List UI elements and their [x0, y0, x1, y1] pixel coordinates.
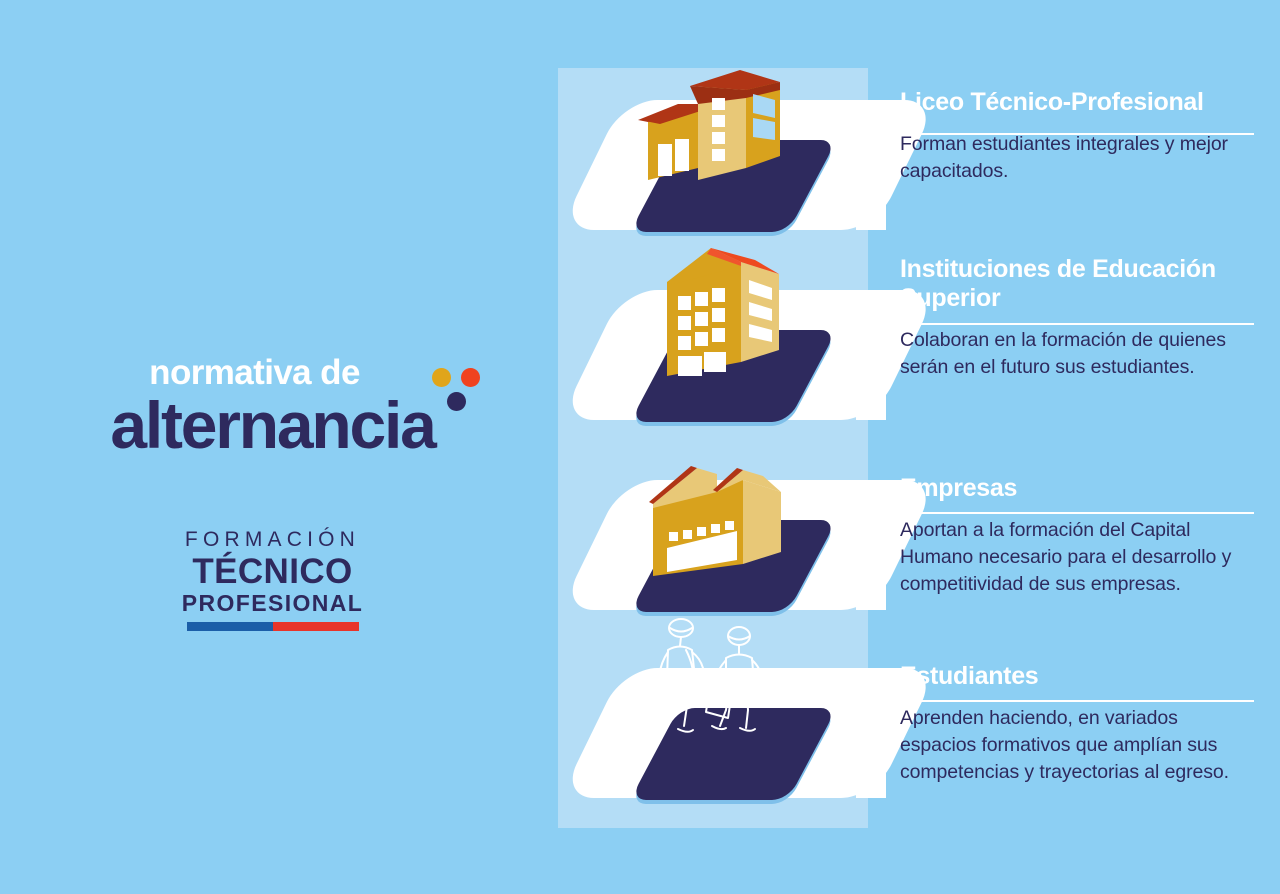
platform-slab-cap-3 [856, 480, 886, 610]
step-title-1: Liceo Técnico-Profesional [900, 88, 1256, 117]
step-title-4: Estudiantes [900, 662, 1256, 691]
step-title-3: Empresas [900, 474, 1256, 503]
platform-slab-cap-1 [856, 100, 886, 230]
step-block-3: Empresas Aportan a la formación del Capi… [900, 474, 1256, 598]
step-body-1: Forman estudiantes integrales y mejor ca… [900, 131, 1256, 185]
step-block-2: Instituciones de Educación Superior Cola… [900, 255, 1256, 381]
dot-navy-icon [447, 392, 466, 411]
flag-bar-red [273, 622, 359, 631]
logo-line-formacion: FORMACIÓN [0, 528, 545, 552]
step-block-4: Estudiantes Aprenden haciendo, en variad… [900, 662, 1256, 786]
step-body-2: Colaboran en la formación de quienes ser… [900, 327, 1256, 381]
decorative-dots [432, 368, 494, 414]
logo-line-profesional: PROFESIONAL [0, 591, 545, 616]
brand-headline: normativa de alternancia [0, 355, 545, 459]
platform-slab-cap-4 [856, 668, 886, 798]
step-body-4: Aprenden haciendo, en variados espacios … [900, 705, 1256, 786]
step-block-1: Liceo Técnico-Profesional Forman estudia… [900, 88, 1256, 185]
ftp-logo: FORMACIÓN TÉCNICO PROFESIONAL [0, 528, 545, 631]
dot-red-icon [461, 368, 480, 387]
step-title-2: Instituciones de Educación Superior [900, 255, 1256, 313]
chile-flag-bar [187, 622, 359, 631]
logo-line-tecnico: TÉCNICO [0, 553, 545, 590]
dot-yellow-icon [432, 368, 451, 387]
step-body-3: Aportan a la formación del Capital Human… [900, 517, 1256, 598]
infographic-canvas: Liceo Técnico-Profesional Forman estudia… [0, 0, 1280, 894]
flag-bar-blue [187, 622, 273, 631]
platform-slab-cap-2 [856, 290, 886, 420]
